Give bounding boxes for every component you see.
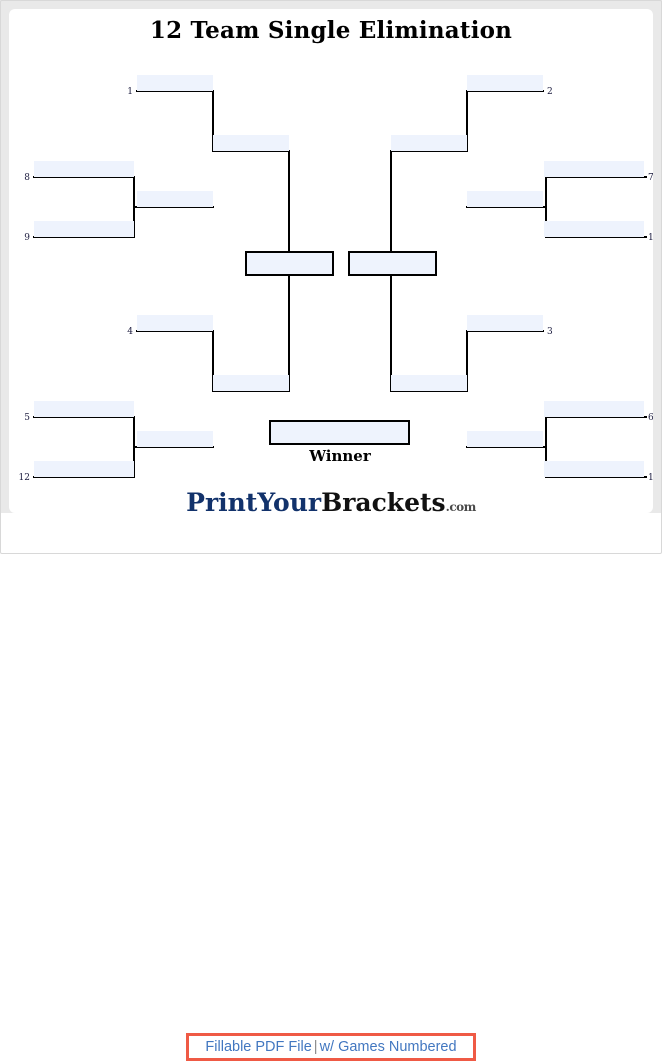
bracket-slot-field[interactable] xyxy=(544,401,644,417)
bracket-slot-field[interactable] xyxy=(544,221,644,237)
seed-number: 2 xyxy=(547,87,553,97)
bracket-slot-field[interactable] xyxy=(34,401,134,417)
bracket-slot-field[interactable] xyxy=(213,135,289,151)
bracket-slot-field[interactable] xyxy=(137,75,213,91)
seed-number: 1 xyxy=(127,87,133,97)
bracket-slot-field[interactable] xyxy=(34,161,134,177)
seed-number: 7 xyxy=(648,173,653,183)
seed-number: 9 xyxy=(24,233,30,243)
bracket-connector-line xyxy=(213,264,289,391)
fillable-pdf-label-left: Fillable PDF File xyxy=(205,1039,311,1055)
seed-number: 10 xyxy=(648,233,653,243)
logo-print-text: Print xyxy=(186,488,257,513)
bracket-connector-line xyxy=(213,151,289,263)
seed-number: 4 xyxy=(127,327,133,337)
bracket-sheet: 12 Team Single Elimination 1894512271036… xyxy=(9,9,653,513)
bracket-slot-field[interactable] xyxy=(467,191,543,207)
fillable-pdf-label-right: w/ Games Numbered xyxy=(320,1039,457,1055)
bracket-slot-field[interactable] xyxy=(544,161,644,177)
seed-number: 6 xyxy=(648,413,653,423)
bracket-connector-line xyxy=(391,151,467,263)
bracket-diagram: 189451227103611 Winner xyxy=(9,9,653,513)
logo-brackets-text: Brackets xyxy=(321,488,446,513)
logo-dotcom-text: .com xyxy=(446,500,476,513)
bracket-slot-field[interactable] xyxy=(391,375,467,391)
seed-number: 8 xyxy=(24,173,30,183)
bracket-page: 12 Team Single Elimination 1894512271036… xyxy=(0,0,662,554)
bracket-connector-line xyxy=(137,331,213,391)
seed-number: 5 xyxy=(24,413,30,423)
bracket-slot-boxed[interactable] xyxy=(246,252,333,275)
bracket-slot-field[interactable] xyxy=(544,461,644,477)
bracket-connector-line xyxy=(467,331,543,391)
bracket-slot-field[interactable] xyxy=(467,431,543,447)
bracket-slot-boxed[interactable] xyxy=(270,421,409,444)
bracket-slot-field[interactable] xyxy=(34,461,134,477)
printyourbrackets-logo: PrintYourBrackets.com xyxy=(9,490,653,513)
bracket-slot-field[interactable] xyxy=(137,315,213,331)
bracket-slot-boxed[interactable] xyxy=(349,252,436,275)
bracket-connector-line xyxy=(391,264,467,391)
bracket-slot-field[interactable] xyxy=(137,431,213,447)
bracket-slot-field[interactable] xyxy=(213,375,289,391)
bracket-connector-line xyxy=(467,91,543,151)
logo-your-text: Your xyxy=(257,488,321,513)
footer-strip: Fillable PDF File | w/ Games Numbered xyxy=(0,513,662,554)
seed-number: 12 xyxy=(19,473,30,483)
winner-label: Winner xyxy=(308,447,372,465)
bracket-slot-field[interactable] xyxy=(391,135,467,151)
seed-number: 3 xyxy=(547,327,553,337)
bracket-wires xyxy=(34,91,646,477)
bracket-slot-field[interactable] xyxy=(137,191,213,207)
fillable-pdf-separator: | xyxy=(312,1039,320,1055)
fillable-pdf-button[interactable]: Fillable PDF File | w/ Games Numbered xyxy=(186,1033,476,1061)
bracket-connector-line xyxy=(137,91,213,151)
bracket-slot-field[interactable] xyxy=(34,221,134,237)
bracket-slots xyxy=(34,75,644,477)
bracket-slot-field[interactable] xyxy=(467,75,543,91)
seed-number: 11 xyxy=(648,473,653,483)
bracket-slot-field[interactable] xyxy=(467,315,543,331)
